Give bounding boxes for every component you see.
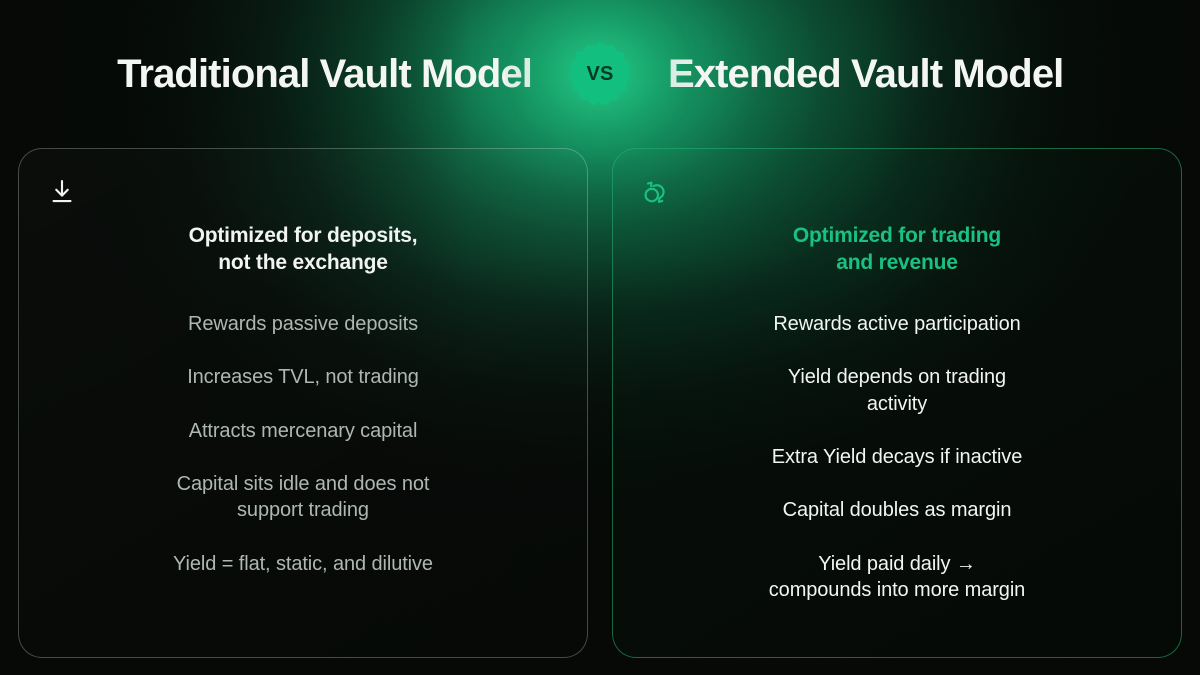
right-card-heading: Optimized for trading and revenue xyxy=(687,223,1107,277)
left-card-heading: Optimized for deposits, not the exchange xyxy=(93,223,513,277)
list-item: Rewards active participation xyxy=(672,311,1122,337)
list-item: Capital doubles as margin xyxy=(672,497,1122,523)
right-column-title: Extended Vault Model xyxy=(636,52,1106,97)
list-item: Capital sits idle and does not support t… xyxy=(78,471,528,524)
list-item: Attracts mercenary capital xyxy=(78,418,528,444)
vs-badge: VS xyxy=(566,40,634,108)
list-item: Rewards passive deposits xyxy=(78,311,528,337)
list-item: Yield paid daily → compounds into more m… xyxy=(672,551,1122,604)
left-column-title: Traditional Vault Model xyxy=(94,52,564,97)
left-card-list: Rewards passive deposits Increases TVL, … xyxy=(78,311,528,604)
list-item: Yield depends on trading activity xyxy=(672,364,1122,417)
extended-vault-card: Optimized for trading and revenue Reward… xyxy=(612,148,1182,658)
vs-badge-wrapper: VS xyxy=(564,38,636,110)
slide-header: Traditional Vault Model VS Extended Vaul… xyxy=(0,0,1200,148)
comparison-slide: Traditional Vault Model VS Extended Vaul… xyxy=(0,0,1200,675)
list-item: Increases TVL, not trading xyxy=(78,364,528,390)
download-icon xyxy=(47,177,77,207)
vs-badge-label: VS xyxy=(566,40,634,108)
comparison-cards: Optimized for deposits, not the exchange… xyxy=(18,148,1182,658)
list-item: Extra Yield decays if inactive xyxy=(672,444,1122,470)
traditional-vault-card: Optimized for deposits, not the exchange… xyxy=(18,148,588,658)
list-item: Yield = flat, static, and dilutive xyxy=(78,551,528,577)
swap-refresh-icon xyxy=(641,177,671,207)
right-card-list: Rewards active participation Yield depen… xyxy=(672,311,1122,631)
